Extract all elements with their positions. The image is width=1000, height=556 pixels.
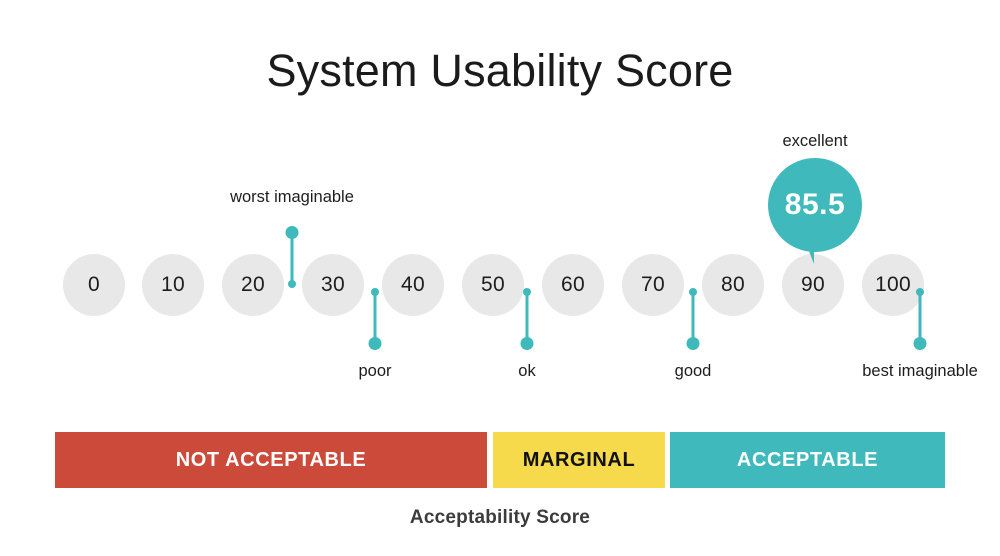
acceptability-bar: NOT ACCEPTABLEMARGINALACCEPTABLE <box>55 432 945 488</box>
acceptability-segment-marginal[interactable]: MARGINAL <box>493 432 665 488</box>
scale-circle-label: 40 <box>401 273 425 297</box>
marker-worst-imaginable[interactable] <box>285 226 299 288</box>
infographic-canvas: System Usability Score 85.5 excellent wo… <box>0 0 1000 556</box>
marker-ok[interactable] <box>520 288 534 350</box>
marker-dot <box>521 337 534 350</box>
scale-circle-label: 50 <box>481 273 505 297</box>
marker-label: good <box>675 362 712 381</box>
score-rating-label: excellent <box>782 132 847 151</box>
scale-circle-label: 100 <box>875 273 911 297</box>
acceptability-caption: Acceptability Score <box>0 507 1000 529</box>
page-title: System Usability Score <box>0 46 1000 96</box>
scale-circle-label: 60 <box>561 273 585 297</box>
marker-poor[interactable] <box>368 288 382 350</box>
score-value: 85.5 <box>785 190 845 220</box>
score-bubble[interactable]: 85.5 <box>768 158 862 298</box>
scale-circle-70[interactable]: 70 <box>622 254 684 316</box>
score-bubble-body: 85.5 <box>768 158 862 252</box>
scale-circle-label: 80 <box>721 273 745 297</box>
scale-circle-label: 10 <box>161 273 185 297</box>
scale-circle-label: 70 <box>641 273 665 297</box>
acceptability-segment-acceptable[interactable]: ACCEPTABLE <box>670 432 945 488</box>
scale-circle-20[interactable]: 20 <box>222 254 284 316</box>
marker-label: ok <box>518 362 535 381</box>
marker-label: best imaginable <box>862 362 978 381</box>
marker-good[interactable] <box>686 288 700 350</box>
scale-circle-label: 0 <box>88 273 100 297</box>
acceptability-segment-not-acceptable[interactable]: NOT ACCEPTABLE <box>55 432 487 488</box>
scale-circle-label: 30 <box>321 273 345 297</box>
scale-circle-50[interactable]: 50 <box>462 254 524 316</box>
marker-dot <box>369 337 382 350</box>
marker-dot <box>288 280 296 288</box>
marker-dot <box>914 337 927 350</box>
scale-circle-30[interactable]: 30 <box>302 254 364 316</box>
marker-label: worst imaginable <box>230 188 354 207</box>
marker-label: poor <box>358 362 391 381</box>
marker-best-imaginable[interactable] <box>913 288 927 350</box>
marker-dot <box>689 288 697 296</box>
scale-circle-0[interactable]: 0 <box>63 254 125 316</box>
marker-dot <box>916 288 924 296</box>
scale-circle-40[interactable]: 40 <box>382 254 444 316</box>
scale-circle-label: 20 <box>241 273 265 297</box>
scale-circle-10[interactable]: 10 <box>142 254 204 316</box>
marker-dot <box>687 337 700 350</box>
marker-dot <box>371 288 379 296</box>
marker-stem <box>291 232 294 286</box>
scale-circle-60[interactable]: 60 <box>542 254 604 316</box>
acceptability-segment-label: MARGINAL <box>523 449 636 472</box>
marker-dot <box>523 288 531 296</box>
acceptability-segment-label: ACCEPTABLE <box>737 449 878 472</box>
scale-circle-80[interactable]: 80 <box>702 254 764 316</box>
marker-dot <box>286 226 299 239</box>
acceptability-segment-label: NOT ACCEPTABLE <box>176 449 367 472</box>
